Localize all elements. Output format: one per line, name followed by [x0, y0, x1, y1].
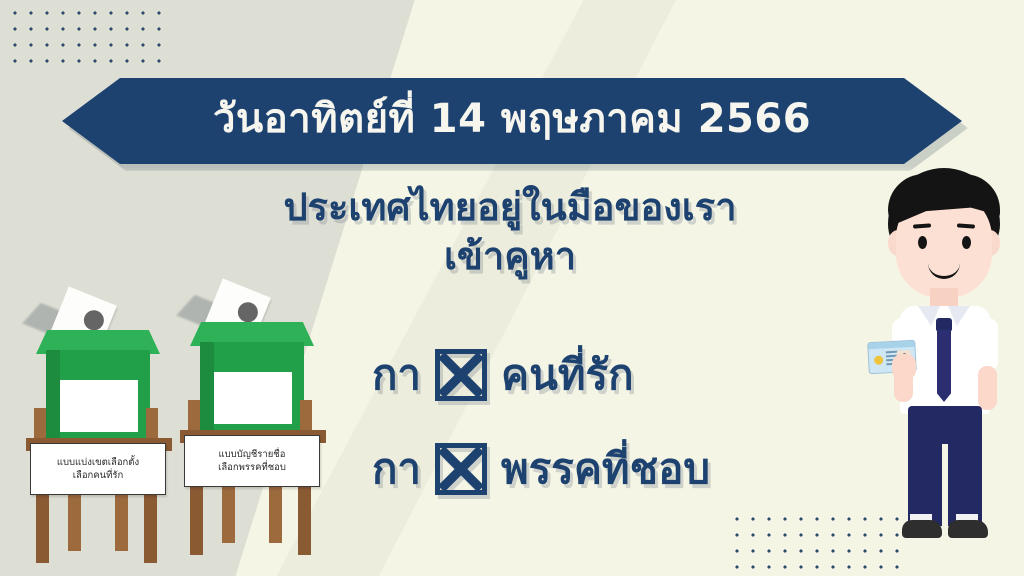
- call-to-action-party-suffix: พรรคที่ชอบ: [501, 436, 710, 502]
- ballot-box-window: [60, 380, 138, 432]
- ballot-stamp-icon: [235, 299, 261, 325]
- election-poster: วันอาทิตย์ที่ 14 พฤษภาคม 2566 ประเทศไทยอ…: [0, 0, 1024, 576]
- checkbox-x-mark-icon: [435, 349, 487, 401]
- call-to-action-candidate-prefix: กา: [372, 342, 421, 408]
- polling-station-constituency: แบบแบ่งเขตเลือกตั้ง เลือกคนที่รัก: [22, 288, 174, 576]
- date-banner: วันอาทิตย์ที่ 14 พฤษภาคม 2566: [62, 78, 962, 164]
- ballot-box-side-shade: [200, 342, 214, 434]
- station-sign-line-1: แบบบัญชีรายชื่อ: [219, 450, 286, 460]
- character-arm-right: [976, 318, 998, 370]
- station-sign-line-2: เลือกพรรคที่ชอบ: [218, 463, 286, 473]
- checkbox-x-mark-icon: [435, 443, 487, 495]
- station-sign: แบบบัญชีรายชื่อ เลือกพรรคที่ชอบ: [184, 435, 320, 487]
- ballot-stamp-icon: [81, 307, 107, 333]
- headline-primary: ประเทศไทยอยู่ในมือของเรา: [170, 186, 850, 229]
- dot-pattern-top-left-icon: [4, 2, 164, 64]
- character-tie: [937, 330, 951, 402]
- ballot-box-side-shade: [46, 350, 60, 442]
- station-sign-line-1: แบบแบ่งเขตเลือกตั้ง: [57, 458, 139, 468]
- date-banner-text: วันอาทิตย์ที่ 14 พฤษภาคม 2566: [213, 99, 811, 143]
- ballot-box-window: [214, 372, 292, 424]
- call-to-action-candidate: กา คนที่รัก: [372, 342, 634, 408]
- station-sign: แบบแบ่งเขตเลือกตั้ง เลือกคนที่รัก: [30, 443, 166, 495]
- headline-secondary: เข้าคูหา: [170, 235, 850, 278]
- character-shoe-right: [948, 520, 988, 538]
- character-eye-right: [962, 236, 971, 249]
- character-forearm-right: [978, 366, 997, 410]
- call-to-action-party: กา พรรคที่ชอบ: [372, 436, 710, 502]
- character-tie-knot: [936, 318, 952, 332]
- character-eye-left: [918, 236, 927, 249]
- character-hand-left: [892, 354, 916, 380]
- id-card-header-band: [868, 341, 914, 349]
- call-to-action-candidate-suffix: คนที่รัก: [501, 342, 633, 408]
- call-to-action-party-prefix: กา: [372, 436, 421, 502]
- id-card-emblem-icon: [874, 355, 883, 364]
- polling-station-party-list: แบบบัญชีรายชื่อ เลือกพรรคที่ชอบ: [176, 280, 328, 576]
- character-shoe-left: [902, 520, 942, 538]
- character-leg-gap: [942, 444, 948, 528]
- headline-block: ประเทศไทยอยู่ในมือของเรา เข้าคูหา: [170, 186, 850, 277]
- date-banner-shape: วันอาทิตย์ที่ 14 พฤษภาคม 2566: [62, 78, 962, 164]
- voter-character-illustration: [852, 168, 1012, 568]
- station-sign-line-2: เลือกคนที่รัก: [73, 471, 124, 481]
